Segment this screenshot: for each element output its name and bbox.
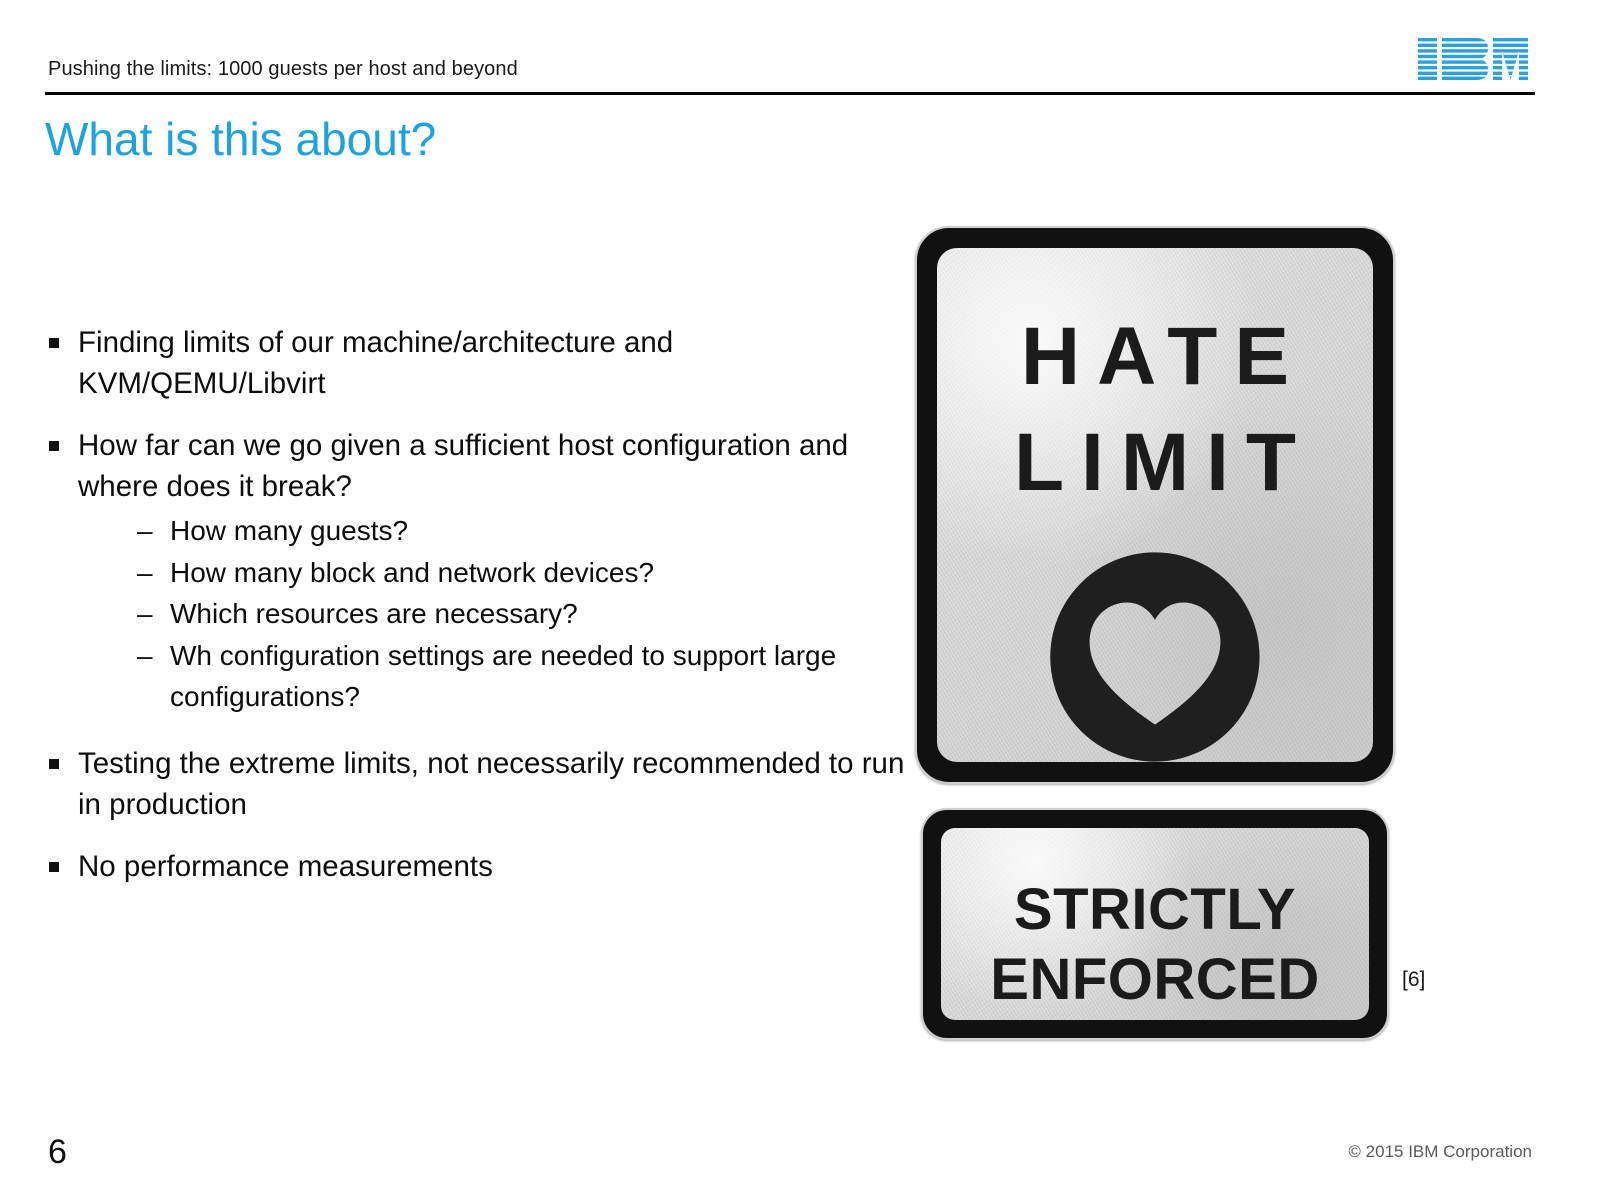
sub-bullet-item: How many guests?: [137, 510, 905, 552]
heart-in-circle-icon: [1046, 548, 1264, 766]
sign-text-hate: HATE: [937, 310, 1373, 404]
page-number: 6: [48, 1133, 67, 1172]
slide: Pushing the limits: 1000 guests per host…: [0, 0, 1600, 1200]
bullet-text: Finding limits of our machine/architectu…: [78, 326, 673, 400]
sign-bottom-plate: STRICTLY ENFORCED: [921, 808, 1389, 1040]
header-divider: [45, 92, 1535, 95]
image-citation: [6]: [1402, 968, 1425, 992]
sign-text-enforced: ENFORCED: [941, 946, 1369, 1013]
sign-text-strictly: STRICTLY: [941, 876, 1369, 943]
copyright-notice: © 2015 IBM Corporation: [1348, 1142, 1532, 1162]
bullet-list: Finding limits of our machine/architectu…: [45, 322, 905, 908]
sign-bottom-face: STRICTLY ENFORCED: [941, 828, 1369, 1020]
sub-bullet-list: How many guests? How many block and netw…: [78, 510, 905, 718]
bullet-text: No performance measurements: [78, 850, 493, 883]
sub-bullet-item: Wh configuration settings are needed to …: [137, 635, 905, 718]
bullet-item: How far can we go given a sufficient hos…: [45, 425, 905, 718]
bullet-text: How far can we go given a sufficient hos…: [78, 429, 848, 503]
hate-limit-sign-image: HATE LIMIT STRICTLY ENFORCED: [915, 226, 1395, 1036]
sub-bullet-item: Which resources are necessary?: [137, 593, 905, 635]
sign-top-face: HATE LIMIT: [937, 248, 1373, 762]
bullet-text: Testing the extreme limits, not necessar…: [78, 747, 904, 821]
bullet-item: Finding limits of our machine/architectu…: [45, 322, 905, 404]
sign-top-plate: HATE LIMIT: [915, 226, 1395, 784]
sub-bullet-item: How many block and network devices?: [137, 552, 905, 594]
bullet-item: No performance measurements: [45, 846, 905, 887]
sign-text-limit: LIMIT: [937, 416, 1373, 510]
bullet-item: Testing the extreme limits, not necessar…: [45, 743, 905, 825]
sub-bullet-text: Which resources are necessary?: [170, 598, 578, 629]
sub-bullet-text: How many block and network devices?: [170, 557, 654, 588]
sub-bullet-text: Wh configuration settings are needed to …: [170, 640, 836, 713]
ibm-logo: [1418, 38, 1528, 80]
slide-header-title: Pushing the limits: 1000 guests per host…: [48, 58, 518, 81]
sub-bullet-text: How many guests?: [170, 515, 408, 546]
page-title: What is this about?: [45, 112, 436, 166]
